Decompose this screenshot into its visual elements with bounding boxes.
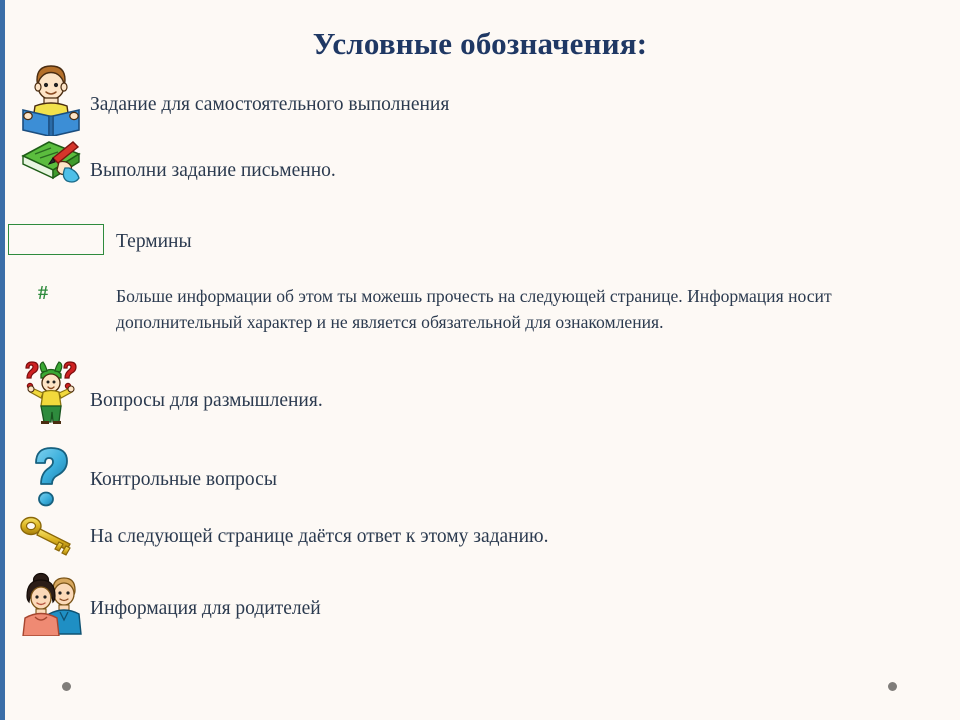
legend-label-answer-key: На следующей странице даётся ответ к это… (90, 510, 549, 550)
legend-label-control-questions: Контрольные вопросы (90, 443, 277, 493)
jester-with-question-marks-icon (12, 358, 90, 424)
legend-label-extra-info: Больше информации об этом ты можешь проч… (116, 283, 896, 335)
legend-row-parents-info: Информация для родителей (12, 568, 912, 636)
legend-label-self-study: Задание для самостоятельного выполнения (90, 62, 449, 118)
legend-label-terms: Термины (116, 229, 192, 255)
notebook-with-pen-icon (12, 136, 90, 194)
legend-label-write-task: Выполни задание письменно. (90, 136, 336, 184)
blue-question-mark-icon (12, 443, 90, 509)
legend-row-control-questions: Контрольные вопросы (12, 443, 912, 509)
page-title: Условные обозначения: (0, 26, 960, 62)
nav-dot-next[interactable] (888, 682, 897, 691)
legend-row-self-study: Задание для самостоятельного выполнения (12, 62, 912, 136)
nav-dot-previous[interactable] (62, 682, 71, 691)
legend-label-thinking-questions: Вопросы для размышления. (90, 358, 323, 414)
parents-couple-icon (12, 568, 90, 636)
empty-green-box-icon (8, 224, 104, 255)
legend-row-thinking-questions: Вопросы для размышления. (12, 358, 912, 424)
slide-canvas: Условные обозначения: (0, 0, 960, 720)
legend-row-answer-key: На следующей странице даётся ответ к это… (12, 510, 912, 558)
golden-key-icon (12, 510, 90, 558)
legend-label-parents-info: Информация для родителей (90, 568, 321, 622)
boy-reading-book-icon (12, 62, 90, 136)
legend-row-write-task: Выполни задание письменно. (12, 136, 912, 194)
hash-symbol-icon: # (38, 282, 48, 305)
